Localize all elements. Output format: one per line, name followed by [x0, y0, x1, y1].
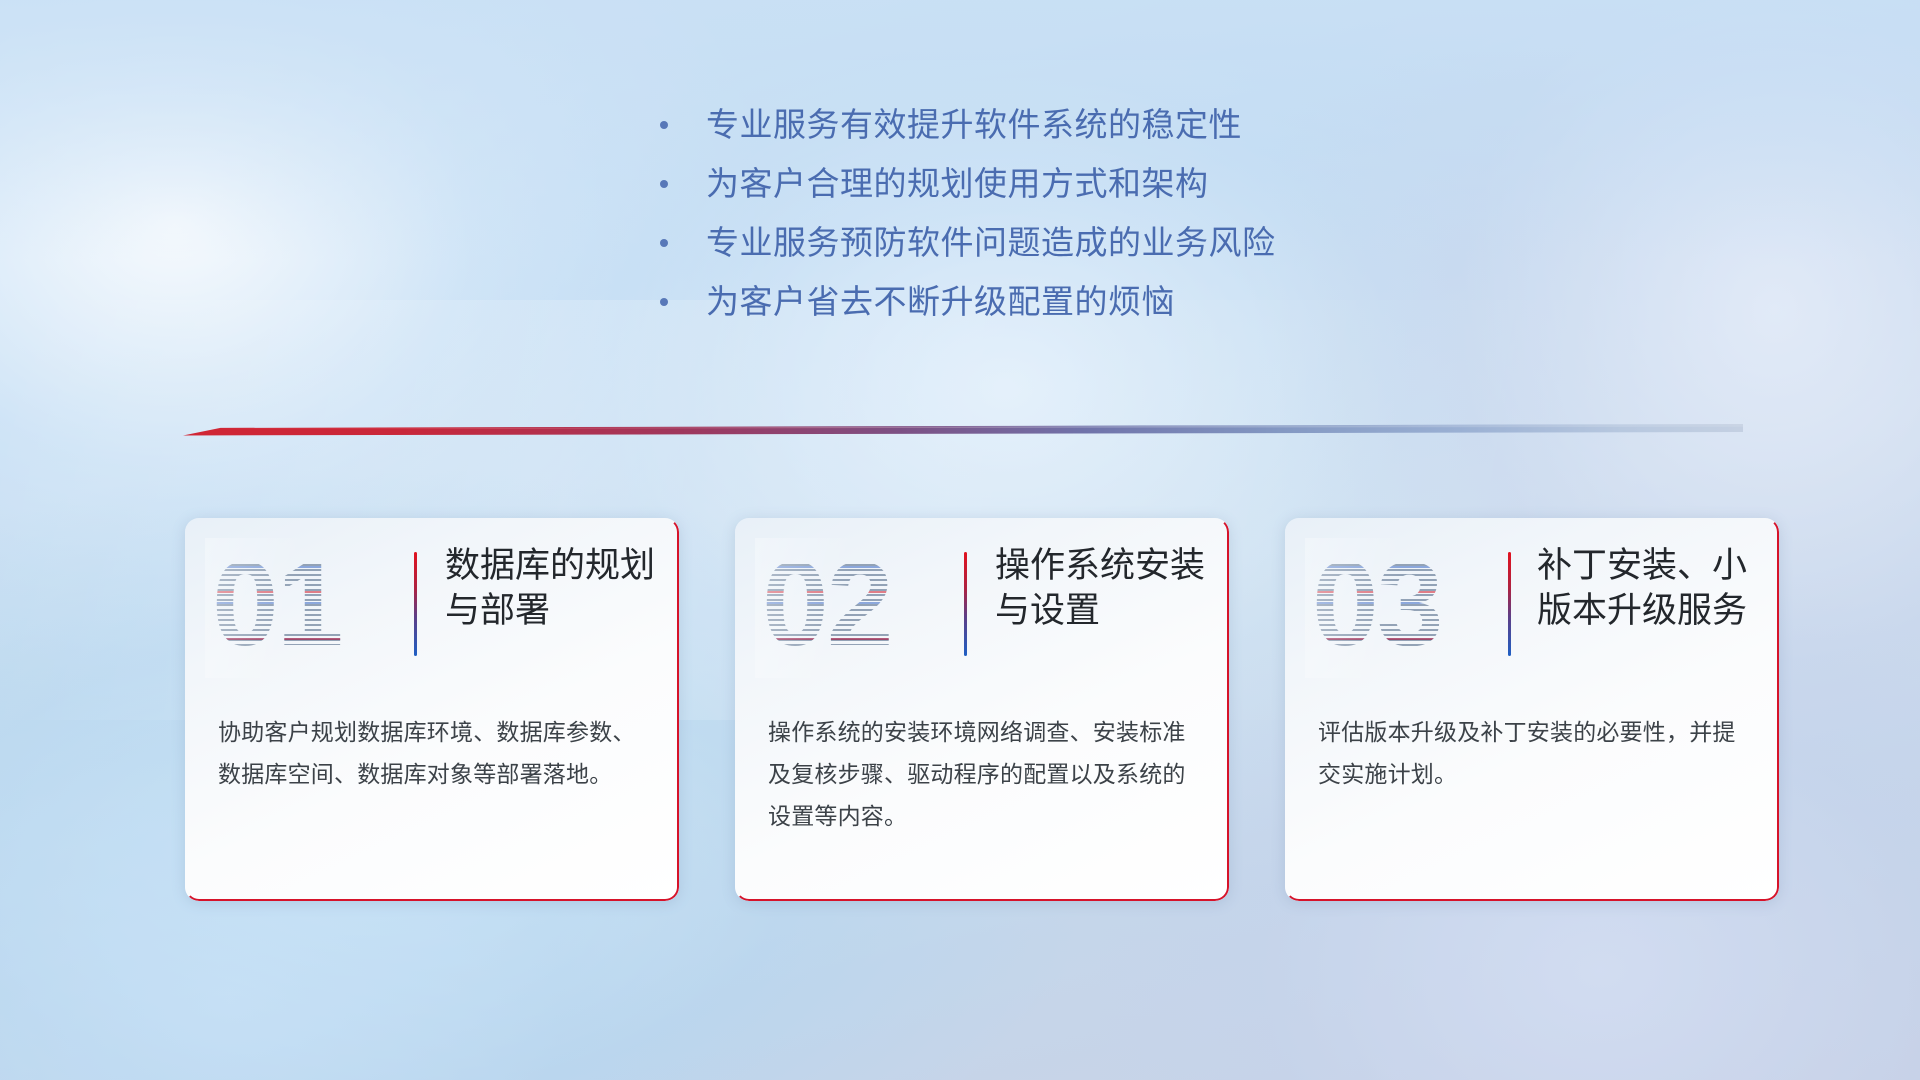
card-body-text: 操作系统的安装环境网络调查、安装标准及复核步骤、驱动程序的配置以及系统的设置等内… [768, 712, 1199, 838]
benefits-bullet-list: 专业服务有效提升软件系统的稳定性 为客户合理的规划使用方式和架构 专业服务预防软… [660, 108, 1276, 318]
bullet-dot-icon [660, 180, 668, 188]
card-header: 02 02 操作系统安装与设置 [735, 518, 1229, 688]
card-number-tint: 02 [762, 544, 891, 664]
service-card[interactable]: 03 03 补丁安装、小版本升级服务 评估版本升级及补丁安装的必要性，并提交实施… [1285, 518, 1779, 901]
card-title-divider [414, 552, 417, 656]
card-header: 03 03 补丁安装、小版本升级服务 [1285, 518, 1779, 688]
bullet-dot-icon [660, 121, 668, 129]
card-body-text: 协助客户规划数据库环境、数据库参数、数据库空间、数据库对象等部署落地。 [218, 712, 649, 796]
card-number-tint: 01 [212, 544, 341, 664]
bullet-text: 专业服务有效提升软件系统的稳定性 [706, 108, 1242, 141]
bullet-item: 专业服务预防软件问题造成的业务风险 [660, 226, 1276, 259]
bullet-text: 为客户合理的规划使用方式和架构 [706, 167, 1209, 200]
card-title: 操作系统安装与设置 [995, 544, 1210, 634]
service-card[interactable]: 01 01 数据库的规划与部署 协助客户规划数据库环境、数据库参数、数据库空间、… [185, 518, 679, 901]
bullet-dot-icon [660, 298, 668, 306]
bullet-item: 专业服务有效提升软件系统的稳定性 [660, 108, 1276, 141]
card-number-tint: 03 [1312, 544, 1441, 664]
bullet-text: 专业服务预防软件问题造成的业务风险 [706, 226, 1276, 259]
bullet-dot-icon [660, 239, 668, 247]
card-title-divider [964, 552, 967, 656]
bullet-item: 为客户合理的规划使用方式和架构 [660, 167, 1276, 200]
card-title: 补丁安装、小版本升级服务 [1537, 544, 1762, 634]
service-card[interactable]: 02 02 操作系统安装与设置 操作系统的安装环境网络调查、安装标准及复核步骤、… [735, 518, 1229, 901]
section-divider [183, 424, 1743, 437]
bullet-item: 为客户省去不断升级配置的烦恼 [660, 285, 1276, 318]
card-title: 数据库的规划与部署 [445, 544, 655, 634]
card-body-text: 评估版本升级及补丁安装的必要性，并提交实施计划。 [1318, 712, 1749, 796]
bullet-text: 为客户省去不断升级配置的烦恼 [706, 285, 1175, 318]
card-header: 01 01 数据库的规划与部署 [185, 518, 679, 688]
service-card-row: 01 01 数据库的规划与部署 协助客户规划数据库环境、数据库参数、数据库空间、… [185, 518, 1779, 901]
card-title-divider [1508, 552, 1511, 656]
